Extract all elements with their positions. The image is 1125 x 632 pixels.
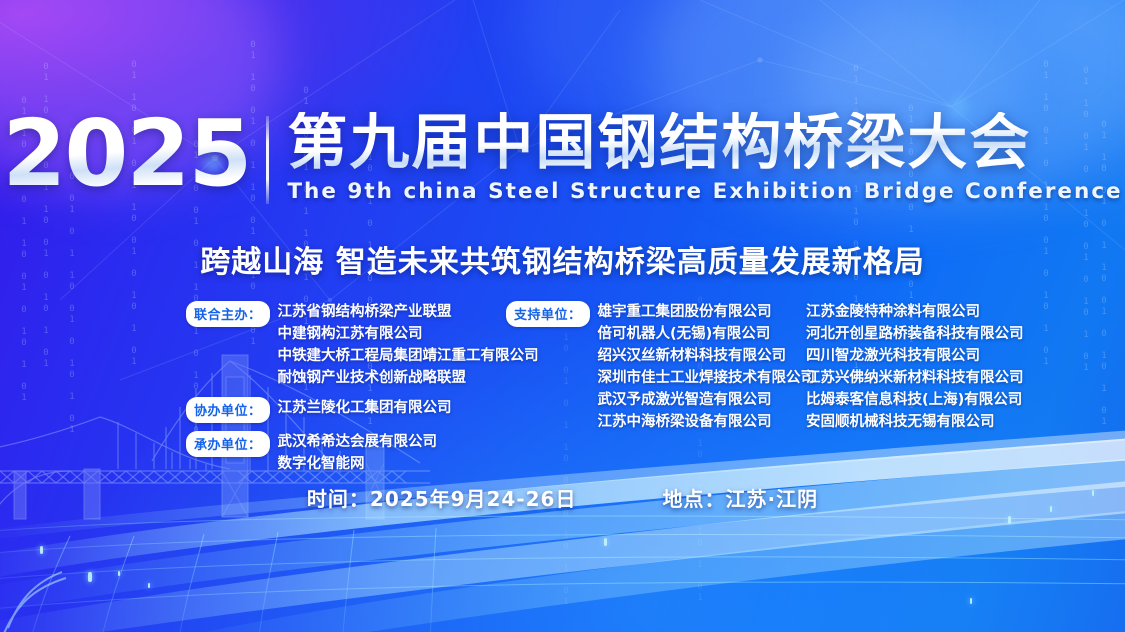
slogan-text: 跨越山海 智造未来共筑钢结构桥梁高质量发展新格局	[0, 237, 1125, 281]
list-item: 深圳市佳士工业焊接技术有限公司	[598, 367, 816, 389]
list-item: 武汉予成激光智造有限公司	[598, 389, 816, 411]
organizers-column-right: 江苏金陵特种涂料有限公司 河北开创星路桥装备科技有限公司 四川智龙激光科技有限公…	[806, 300, 1024, 433]
organizers-column-middle: 支持单位： 雄宇重工集团股份有限公司 倍可机器人(无锡)有限公司 绍兴汉丝新材料…	[506, 300, 815, 433]
list-item: 江苏金陵特种涂料有限公司	[806, 301, 1024, 323]
banner-header: 2025 第九届中国钢结构桥梁大会 The 9th china Steel St…	[0, 112, 1125, 204]
event-date: 时间：2025年9月24-26日	[307, 483, 577, 512]
sparkle	[40, 546, 43, 554]
list-item: 数字化智能网	[278, 453, 438, 475]
list-item: 雄宇重工集团股份有限公司	[598, 301, 816, 323]
year-text: 2025	[2, 112, 266, 197]
event-location: 地点：江苏·江阴	[662, 483, 818, 512]
undertaker-group: 承办单位： 武汉希希达会展有限公司 数字化智能网	[186, 430, 539, 475]
page-title: 第九届中国钢结构桥梁大会	[287, 112, 1122, 174]
co-organizer-label: 协办单位：	[186, 397, 270, 423]
organizers-column-left: 联合主办： 江苏省钢结构桥梁产业联盟 中建钢构江苏有限公司 中铁建大桥工程局集团…	[186, 300, 539, 475]
list-item: 江苏兴佛纳米新材料科技有限公司	[806, 367, 1024, 389]
list-item: 比姆泰客信息科技(上海)有限公司	[806, 389, 1024, 411]
conference-banner: 01 10 01 0 1 10 01 0 10 1 01 01 10 01 0 …	[0, 0, 1125, 632]
supporters-group: 支持单位： 雄宇重工集团股份有限公司 倍可机器人(无锡)有限公司 绍兴汉丝新材料…	[506, 300, 815, 433]
page-subtitle: The 9th china Steel Structure Exhibition…	[287, 179, 1122, 204]
list-item: 江苏省钢结构桥梁产业联盟	[278, 301, 539, 323]
sparkle	[604, 538, 607, 546]
list-item: 绍兴汉丝新材料科技有限公司	[598, 345, 816, 367]
list-item: 中铁建大桥工程局集团靖江重工有限公司	[278, 345, 539, 367]
list-item: 四川智龙激光科技有限公司	[806, 345, 1024, 367]
joint-host-group: 联合主办： 江苏省钢结构桥梁产业联盟 中建钢构江苏有限公司 中铁建大桥工程局集团…	[186, 300, 539, 389]
list-item: 中建钢构江苏有限公司	[278, 323, 539, 345]
list-item: 倍可机器人(无锡)有限公司	[598, 323, 816, 345]
sparkle	[148, 583, 150, 588]
list-item: 江苏兰陵化工集团有限公司	[278, 397, 452, 419]
list-item: 耐蚀钢产业技术创新战略联盟	[278, 367, 539, 389]
supporters-label: 支持单位：	[506, 301, 590, 327]
joint-host-label: 联合主办：	[186, 301, 270, 327]
list-item: 武汉希希达会展有限公司	[278, 431, 438, 453]
sparkle	[118, 571, 120, 576]
list-item: 江苏中海桥梁设备有限公司	[598, 411, 816, 433]
banner-footer: 时间：2025年9月24-26日 地点：江苏·江阴	[0, 483, 1125, 512]
sparkle	[970, 598, 972, 604]
sparkle	[1008, 516, 1011, 524]
sparkle	[88, 572, 92, 582]
organizers-section: 联合主办： 江苏省钢结构桥梁产业联盟 中建钢构江苏有限公司 中铁建大桥工程局集团…	[0, 300, 1125, 450]
list-item: 安固顺机械科技无锡有限公司	[806, 411, 1024, 433]
undertaker-label: 承办单位：	[186, 431, 270, 457]
list-item: 河北开创星路桥装备科技有限公司	[806, 323, 1024, 345]
co-organizer-group: 协办单位： 江苏兰陵化工集团有限公司	[186, 396, 539, 423]
